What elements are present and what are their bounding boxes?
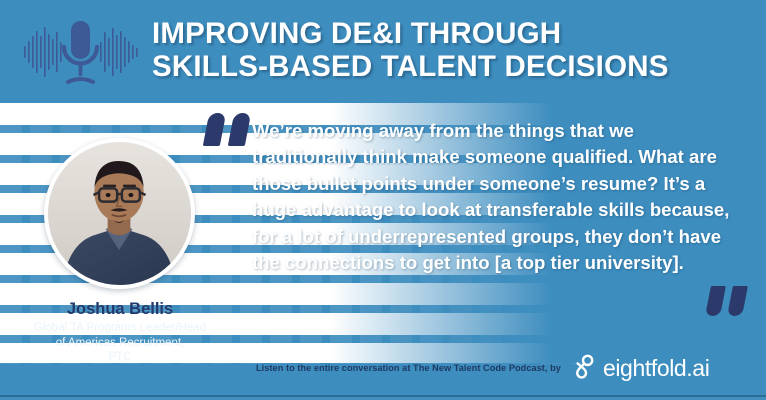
speaker-role: Global TA Programs Leader/Head of Americ…: [8, 321, 232, 365]
quote-close-mark: [708, 286, 745, 316]
quote-open-mark: [206, 113, 248, 146]
eightfold-infinity-logo: [570, 352, 597, 384]
footer: Listen to the entire conversation at The…: [256, 352, 709, 384]
title-line-2: SKILLS-BASED TALENT DECISIONS: [152, 50, 758, 83]
audio-waveform-icon: [100, 28, 138, 76]
avatar: [44, 138, 195, 289]
footer-cta-text: Listen to the entire conversation at The…: [256, 363, 561, 373]
brand-name: eightfold.ai: [603, 357, 709, 380]
page-title: IMPROVING DE&I THROUGH SKILLS-BASED TALE…: [152, 17, 758, 83]
speaker-role-line-3: PTC: [8, 350, 232, 365]
speaker-role-line-1: Global TA Programs Leader/Head: [8, 321, 232, 336]
brand-lockup[interactable]: eightfold.ai: [570, 352, 709, 384]
speaker-role-line-2: of Americas Recruitment,: [8, 336, 232, 351]
microphone-icon: [14, 12, 146, 92]
audio-waveform-icon: [24, 27, 62, 77]
podcast-quote-card: IMPROVING DE&I THROUGH SKILLS-BASED TALE…: [0, 0, 766, 400]
title-line-1: IMPROVING DE&I THROUGH: [152, 17, 561, 50]
quote-text: We’re moving away from the things that w…: [252, 118, 732, 276]
header-bar: IMPROVING DE&I THROUGH SKILLS-BASED TALE…: [0, 0, 766, 103]
speaker-name: Joshua Bellis: [0, 300, 240, 319]
